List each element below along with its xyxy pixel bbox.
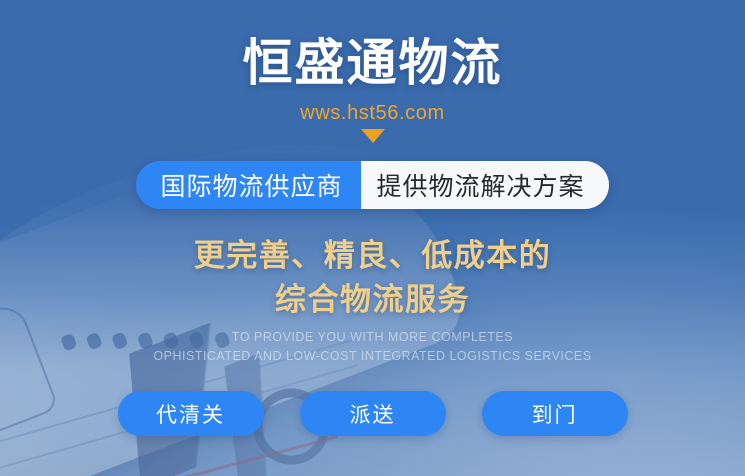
subhead-line-1: TO PROVIDE YOU WITH MORE COMPLETES [0,328,745,347]
service-button-row: 代清关 派送 到门 [0,391,745,436]
service-button-door-to-door[interactable]: 到门 [482,391,628,436]
headline: 更完善、精良、低成本的 综合物流服务 [0,234,745,322]
subhead-line-2: OPHISTICATED AND LOW-COST INTEGRATED LOG… [0,347,745,366]
tagline-pill-left: 国际物流供应商 [136,161,360,209]
service-button-customs-clearance[interactable]: 代清关 [118,391,264,436]
website-url[interactable]: wws.hst56.com [0,100,745,126]
promo-banner: 恒盛通物流 wws.hst56.com 国际物流供应商 提供物流解决方案 更完善… [0,0,745,476]
subhead-english: TO PROVIDE YOU WITH MORE COMPLETES OPHIS… [0,328,745,366]
tagline-pill: 国际物流供应商 提供物流解决方案 [136,161,608,209]
tagline-pill-right: 提供物流解决方案 [361,161,609,209]
tagline-pill-row: 国际物流供应商 提供物流解决方案 [0,161,745,209]
service-button-delivery[interactable]: 派送 [300,391,446,436]
headline-line-2: 综合物流服务 [0,278,745,322]
headline-line-1: 更完善、精良、低成本的 [0,234,745,278]
brand-title: 恒盛通物流 [0,34,745,92]
triangle-down-icon [361,129,385,143]
banner-content: 恒盛通物流 wws.hst56.com 国际物流供应商 提供物流解决方案 更完善… [0,0,745,476]
